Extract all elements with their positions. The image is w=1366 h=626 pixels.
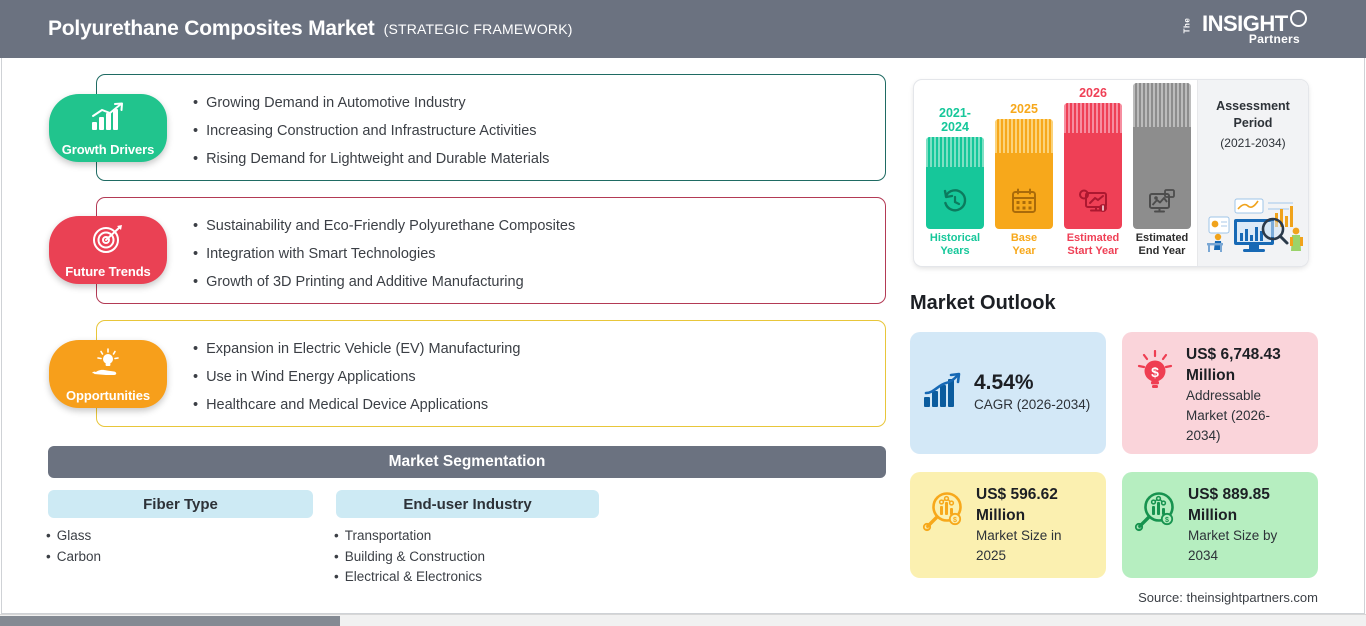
- target-dart-icon: [89, 224, 127, 259]
- assessment-title: Assessment Period: [1198, 80, 1308, 132]
- assessment-period-summary: Assessment Period (2021-2034): [1197, 80, 1308, 266]
- list-item: Transportation: [334, 526, 485, 547]
- future-trends-bullet-list: Sustainability and Eco-Friendly Polyuret…: [193, 212, 575, 296]
- assessment-bar-caption: EstimatedEnd Year: [1133, 232, 1191, 258]
- calendar-icon: [1011, 188, 1037, 219]
- assessment-bar-caption: BaseYear: [995, 232, 1053, 258]
- assessment-bar-caption-line2: Years: [940, 245, 969, 257]
- list-item: Rising Demand for Lightweight and Durabl…: [193, 145, 549, 173]
- badge-label: Opportunities: [66, 388, 150, 403]
- badge-label: Growth Drivers: [62, 142, 155, 157]
- stat-unit: Million: [976, 505, 1094, 526]
- assessment-bar-caption-line1: Base: [1011, 232, 1037, 244]
- list-item: Healthcare and Medical Device Applicatio…: [193, 391, 520, 419]
- list-item: Use in Wind Energy Applications: [193, 363, 520, 391]
- monitor-settings-icon: [1078, 188, 1108, 219]
- list-item: Integration with Smart Technologies: [193, 240, 575, 268]
- panel-growth-drivers: Growing Demand in Automotive Industry In…: [96, 74, 886, 181]
- logo-partners-text: Partners: [1249, 32, 1300, 46]
- segment-list-end-user-industry: Transportation Building & Construction E…: [334, 526, 485, 588]
- magnifier-chart-icon: $ $: [1134, 490, 1178, 537]
- svg-text:$: $: [926, 526, 929, 532]
- svg-text:$: $: [1138, 526, 1141, 532]
- list-item: Expansion in Electric Vehicle (EV) Manuf…: [193, 335, 520, 363]
- horizontal-scrollbar[interactable]: [0, 614, 1366, 626]
- assessment-title-line1: Assessment: [1216, 99, 1290, 113]
- stat-text: US$ 596.62 Million Market Size in 2025: [976, 484, 1094, 566]
- monitor-image-icon: [1148, 188, 1176, 219]
- assessment-bar-body: [926, 137, 984, 229]
- stat-unit: Million: [1186, 365, 1306, 386]
- assessment-bar-caption: EstimatedStart Year: [1064, 232, 1122, 258]
- stat-label-line2: 2025: [976, 546, 1094, 566]
- lightbulb-dollar-icon: $: [1134, 350, 1176, 399]
- assessment-bar-2: 2025BaseYear: [995, 102, 1053, 258]
- assessment-bar-stripes: [926, 137, 984, 167]
- assessment-bar-stripes: [995, 119, 1053, 153]
- clock-rewind-icon: [942, 188, 968, 219]
- assessment-period-panel: 2021-2024HistoricalYears2025BaseYear2026…: [914, 80, 1308, 266]
- assessment-bar-caption-line1: Historical: [930, 232, 980, 244]
- market-segmentation-title: Market Segmentation: [389, 453, 546, 471]
- assessment-bar-caption-line2: Year: [1012, 245, 1035, 257]
- assessment-bar-body: [1064, 103, 1122, 229]
- stat-card-cagr: 4.54% CAGR (2026-2034): [910, 332, 1106, 454]
- assessment-bar-body: [995, 119, 1053, 229]
- assessment-bar-stripes: [1064, 103, 1122, 133]
- insight-partners-logo: The INSIGHT Partners: [1188, 9, 1308, 49]
- stat-card-market-size-2025: $ $ US$ 596.62 Million Market Size in 20…: [910, 472, 1106, 578]
- list-item: Glass: [46, 526, 101, 547]
- logo-the-text: The: [1182, 18, 1191, 34]
- analytics-dashboard-illustration: [1201, 193, 1305, 260]
- market-segmentation-header: Market Segmentation: [48, 446, 886, 478]
- stat-label: CAGR (2026-2034): [974, 395, 1094, 415]
- stat-value: US$ 596.62: [976, 484, 1094, 505]
- panel-opportunities: Expansion in Electric Vehicle (EV) Manuf…: [96, 320, 886, 427]
- stat-unit: Million: [1188, 505, 1306, 526]
- badge-label: Future Trends: [65, 264, 150, 279]
- assessment-bar-year: 2026: [1064, 86, 1122, 100]
- stat-label-line1: Market Size by: [1188, 526, 1306, 546]
- assessment-bars-chart: 2021-2024HistoricalYears2025BaseYear2026…: [914, 80, 1197, 266]
- growth-drivers-bullet-list: Growing Demand in Automotive Industry In…: [193, 89, 549, 173]
- list-item: Growth of 3D Printing and Additive Manuf…: [193, 268, 575, 296]
- assessment-bar-caption-line1: Estimated: [1136, 232, 1189, 244]
- stat-card-addressable-market: $ US$ 6,748.43 Million Addressable Marke…: [1122, 332, 1318, 454]
- assessment-bar-year: 2021-2024: [926, 106, 984, 134]
- assessment-bar-body: [1133, 83, 1191, 229]
- stat-value: 4.54%: [974, 371, 1034, 394]
- stat-label-line1: Addressable: [1186, 386, 1306, 406]
- source-attribution: Source: theinsightpartners.com: [1138, 590, 1318, 605]
- list-item: Increasing Construction and Infrastructu…: [193, 117, 549, 145]
- list-item: Building & Construction: [334, 547, 485, 568]
- segment-list-fiber-type: Glass Carbon: [46, 526, 101, 567]
- stat-text: US$ 6,748.43 Million Addressable Market …: [1186, 344, 1306, 446]
- assessment-bar-caption: HistoricalYears: [926, 232, 984, 258]
- assessment-bar-4: 2034EstimatedEnd Year: [1133, 80, 1191, 258]
- assessment-bar-1: 2021-2024HistoricalYears: [926, 106, 984, 258]
- stat-label-line2: 2034: [1188, 546, 1306, 566]
- segment-column-title-fiber-type: Fiber Type: [48, 490, 313, 518]
- segment-title-text: End-user Industry: [403, 496, 531, 513]
- assessment-bar-caption-line1: Estimated: [1067, 232, 1120, 244]
- assessment-bar-3: 2026EstimatedStart Year: [1064, 86, 1122, 258]
- market-outlook-title: Market Outlook: [910, 292, 1056, 315]
- page-subtitle: (STRATEGIC FRAMEWORK): [384, 21, 573, 37]
- assessment-bar-stripes: [1133, 83, 1191, 127]
- page-title: Polyurethane Composites Market: [48, 17, 375, 41]
- magnifier-chart-icon: $ $: [922, 490, 966, 537]
- logo-circle-icon: [1290, 10, 1307, 27]
- stat-card-market-size-2034: $ $ US$ 889.85 Million Market Size by 20…: [1122, 472, 1318, 578]
- svg-text:$: $: [1151, 364, 1159, 380]
- stat-value: US$ 6,748.43: [1186, 344, 1306, 365]
- bar-chart-arrow-icon: [88, 102, 128, 137]
- assessment-bar-caption-line2: End Year: [1139, 245, 1186, 257]
- badge-future-trends[interactable]: Future Trends: [49, 216, 167, 284]
- segment-column-title-end-user-industry: End-user Industry: [336, 490, 599, 518]
- stat-label-line2: Market (2026-: [1186, 406, 1306, 426]
- svg-text:$: $: [1165, 517, 1169, 524]
- svg-text:$: $: [953, 517, 957, 524]
- infographic-page: Polyurethane Composites Market (STRATEGI…: [0, 0, 1366, 626]
- assessment-title-line2: Period: [1234, 116, 1273, 130]
- badge-opportunities[interactable]: Opportunities: [49, 340, 167, 408]
- opportunities-bullet-list: Expansion in Electric Vehicle (EV) Manuf…: [193, 335, 520, 419]
- segment-title-text: Fiber Type: [143, 496, 218, 513]
- stat-label-line3: 2034): [1186, 426, 1306, 446]
- panel-future-trends: Sustainability and Eco-Friendly Polyuret…: [96, 197, 886, 304]
- stat-label-line1: Market Size in: [976, 526, 1094, 546]
- assessment-bar-year: 2025: [995, 102, 1053, 116]
- header-bar: Polyurethane Composites Market (STRATEGI…: [0, 0, 1366, 58]
- scrollbar-thumb[interactable]: [0, 616, 340, 626]
- stat-text: 4.54% CAGR (2026-2034): [974, 371, 1094, 415]
- growth-bars-icon: [922, 371, 964, 416]
- list-item: Growing Demand in Automotive Industry: [193, 89, 549, 117]
- list-item: Electrical & Electronics: [334, 567, 485, 588]
- badge-growth-drivers[interactable]: Growth Drivers: [49, 94, 167, 162]
- assessment-bar-caption-line2: Start Year: [1067, 245, 1118, 257]
- assessment-range: (2021-2034): [1198, 136, 1308, 150]
- list-item: Sustainability and Eco-Friendly Polyuret…: [193, 212, 575, 240]
- stat-text: US$ 889.85 Million Market Size by 2034: [1188, 484, 1306, 566]
- hand-lightbulb-icon: [87, 348, 129, 385]
- list-item: Carbon: [46, 547, 101, 568]
- stat-value: US$ 889.85: [1188, 484, 1306, 505]
